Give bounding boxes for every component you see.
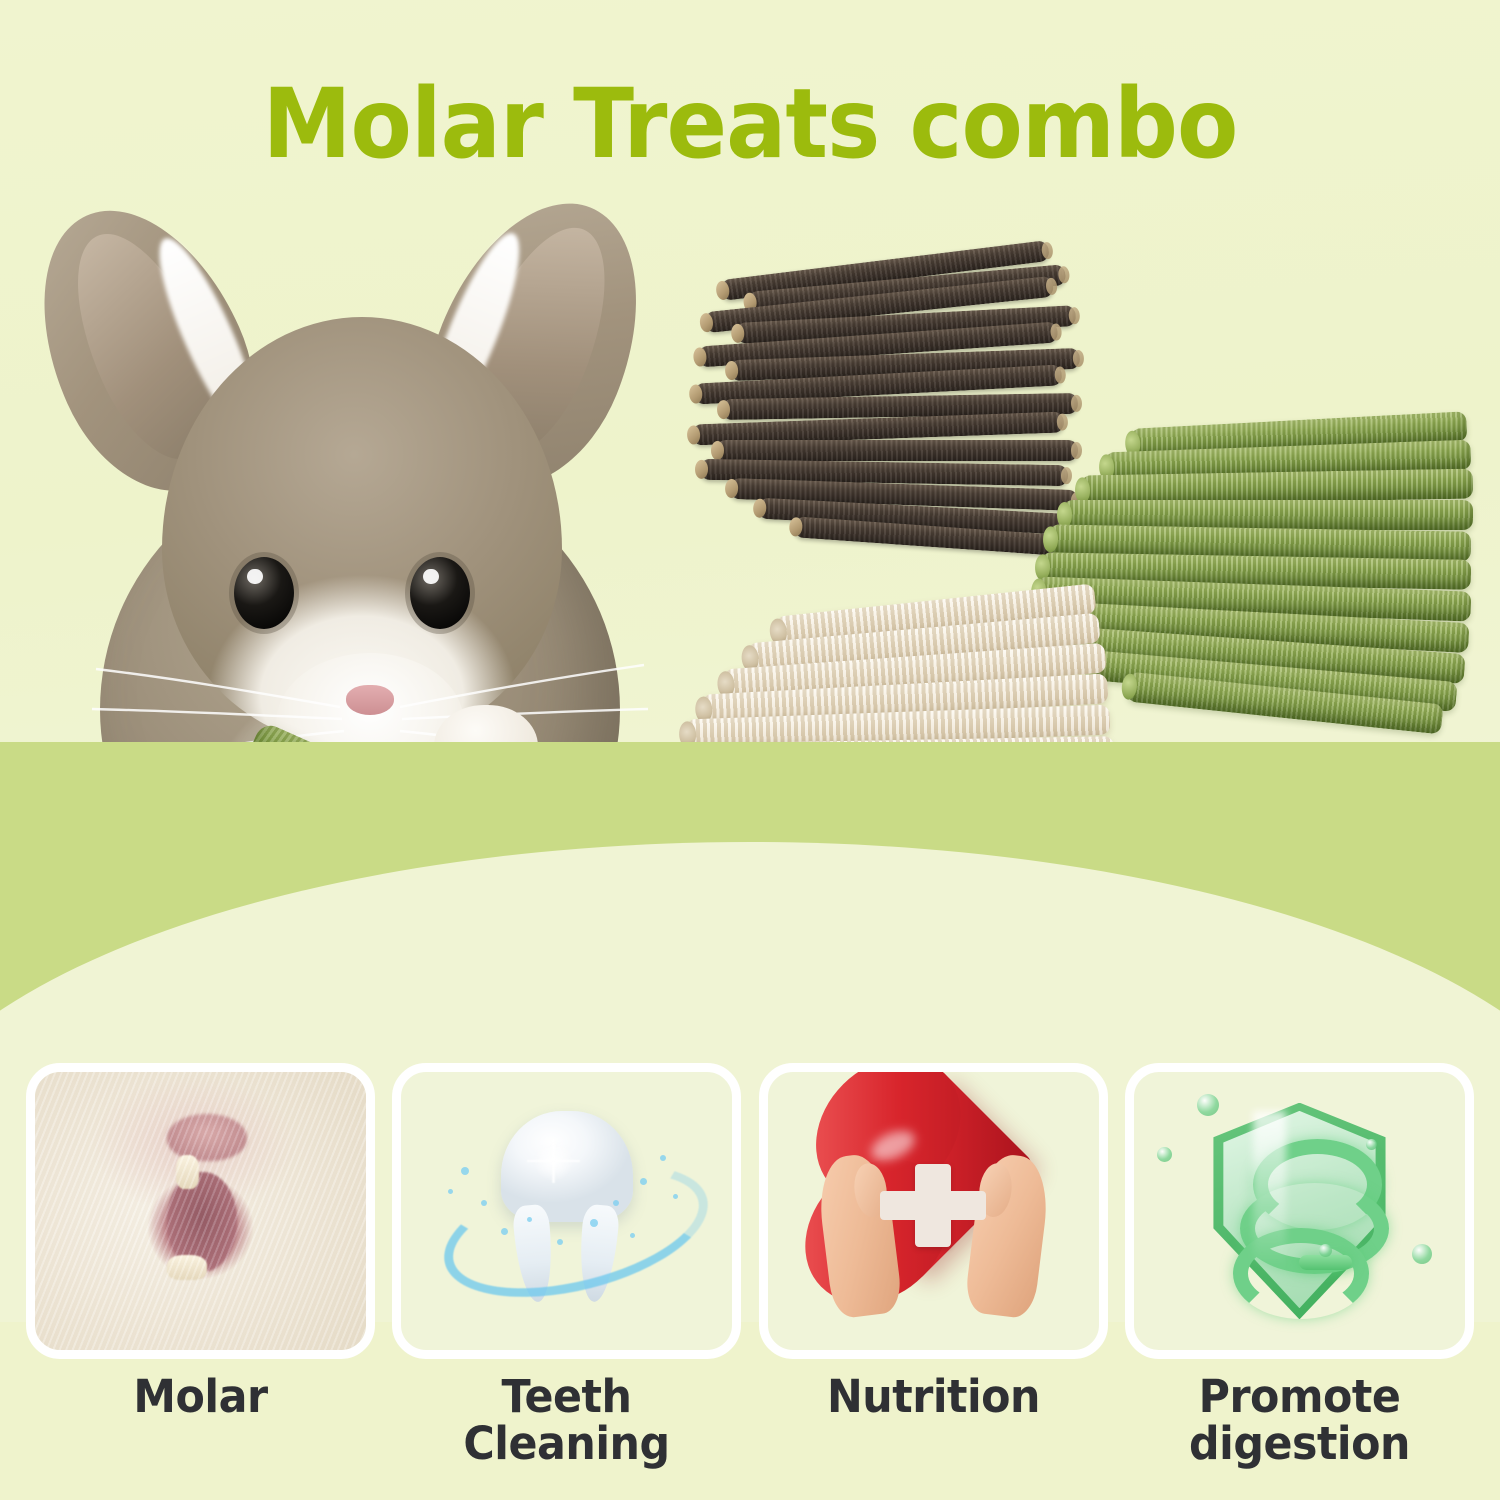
hands-holding-heart-icon bbox=[768, 1072, 1099, 1350]
chinchilla-eye-left bbox=[234, 557, 294, 629]
intestine-tail bbox=[1299, 1255, 1352, 1270]
product-infographic: Molar Treats combo bbox=[0, 0, 1500, 1500]
chinchilla-nose bbox=[346, 685, 394, 715]
chinchilla-eye-right bbox=[410, 557, 470, 629]
chinchilla-paw-left bbox=[140, 825, 236, 899]
rabbit-fur-texture bbox=[35, 1072, 366, 1350]
eye-glint-left bbox=[247, 569, 263, 585]
bubble-icon bbox=[1366, 1139, 1377, 1150]
feature-card-nutrition[interactable] bbox=[759, 1063, 1108, 1359]
feature-card-teeth-cleaning[interactable] bbox=[392, 1063, 741, 1359]
medical-cross-icon bbox=[915, 1164, 951, 1247]
bubble-icon bbox=[1412, 1244, 1432, 1264]
feature-card-molar[interactable] bbox=[26, 1063, 375, 1359]
feature-label-promote-digestion: Promote digestion bbox=[1134, 1374, 1466, 1468]
feature-label-nutrition: Nutrition bbox=[767, 1374, 1099, 1468]
chinchilla-paw-right bbox=[434, 705, 538, 791]
feature-card-row bbox=[0, 1063, 1500, 1363]
feature-label-teeth-cleaning: Teeth Cleaning bbox=[401, 1374, 733, 1468]
eye-glint-right bbox=[423, 569, 439, 585]
shield-gloss bbox=[1253, 1111, 1286, 1267]
bubble-icon bbox=[1197, 1094, 1219, 1116]
digestion-shield-icon bbox=[1134, 1072, 1465, 1350]
rabbit-mouth-photo-icon bbox=[35, 1072, 366, 1350]
sparkling-tooth-icon bbox=[401, 1072, 732, 1350]
product-sweet-bamboo-sticks bbox=[672, 598, 1132, 918]
feature-card-promote-digestion[interactable] bbox=[1125, 1063, 1474, 1359]
page-title: Molar Treats combo bbox=[53, 74, 1448, 175]
feature-label-molar: Molar bbox=[35, 1374, 367, 1468]
bubble-icon bbox=[1157, 1147, 1172, 1162]
feature-label-row: Molar Teeth Cleaning Nutrition Promote d… bbox=[0, 1374, 1500, 1468]
sparkle-dots bbox=[401, 1072, 732, 1350]
